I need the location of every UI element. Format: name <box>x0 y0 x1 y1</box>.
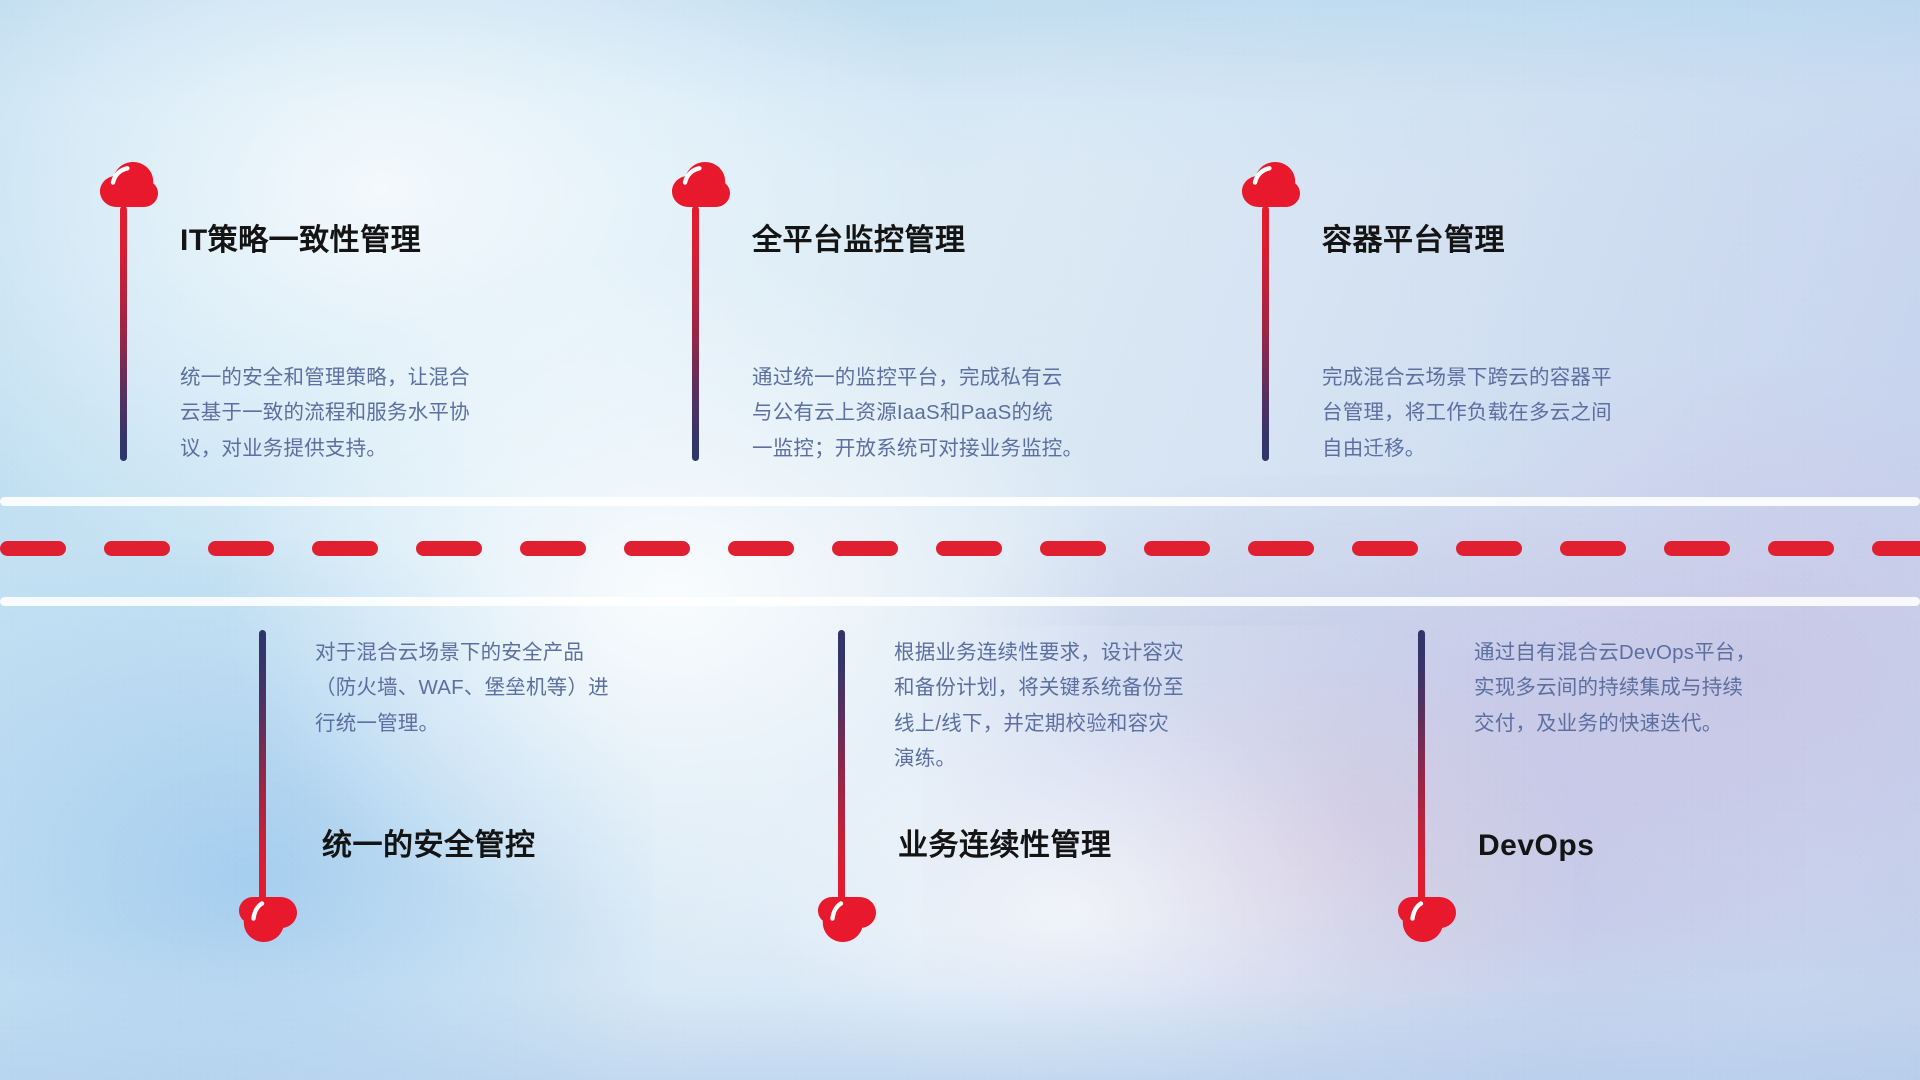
divider-rail-bottom <box>0 597 1920 606</box>
body-line: 完成混合云场景下跨云的容器平 <box>1322 360 1742 395</box>
node-body: 通过自有混合云DevOps平台， 实现多云间的持续集成与持续 交付，及业务的快速… <box>1474 635 1894 741</box>
divider-dash <box>1248 541 1314 556</box>
divider-dash <box>832 541 898 556</box>
node-body: 通过统一的监控平台，完成私有云 与公有云上资源IaaS和PaaS的统 一监控；开… <box>752 360 1172 466</box>
body-line: 统一的安全和管理策略，让混合 <box>180 360 600 395</box>
body-line: 台管理，将工作负载在多云之间 <box>1322 395 1742 430</box>
cloud-icon <box>1398 896 1456 942</box>
divider-dash <box>1872 541 1920 556</box>
body-line: 议，对业务提供支持。 <box>180 431 600 466</box>
body-line: 一监控；开放系统可对接业务监控。 <box>752 431 1172 466</box>
connector-stem <box>692 206 699 461</box>
divider-dash <box>208 541 274 556</box>
connector-stem <box>259 630 266 900</box>
node-body: 根据业务连续性要求，设计容灾 和备份计划，将关键系统备份至 线上/线下，并定期校… <box>894 635 1314 776</box>
divider-dash <box>0 541 66 556</box>
divider-dash <box>1352 541 1418 556</box>
divider-dash <box>624 541 690 556</box>
node-title: DevOps <box>1478 828 1594 864</box>
body-line: 通过统一的监控平台，完成私有云 <box>752 360 1172 395</box>
divider-dash <box>1560 541 1626 556</box>
body-line: 对于混合云场景下的安全产品 <box>315 635 735 670</box>
cloud-icon <box>239 896 297 942</box>
divider-dash <box>1456 541 1522 556</box>
cloud-icon <box>818 896 876 942</box>
divider-dash <box>728 541 794 556</box>
divider-dash <box>936 541 1002 556</box>
divider-dash <box>1144 541 1210 556</box>
body-line: 线上/线下，并定期校验和容灾 <box>894 706 1314 741</box>
divider-dash <box>416 541 482 556</box>
connector-stem <box>120 206 127 461</box>
divider-rail-top <box>0 497 1920 506</box>
body-line: 根据业务连续性要求，设计容灾 <box>894 635 1314 670</box>
cloud-icon <box>672 162 730 208</box>
node-body: 完成混合云场景下跨云的容器平 台管理，将工作负载在多云之间 自由迁移。 <box>1322 360 1742 466</box>
body-line: 通过自有混合云DevOps平台， <box>1474 635 1894 670</box>
divider-dash <box>104 541 170 556</box>
cloud-icon <box>100 162 158 208</box>
connector-stem <box>838 630 845 900</box>
node-body: 统一的安全和管理策略，让混合 云基于一致的流程和服务水平协 议，对业务提供支持。 <box>180 360 600 466</box>
body-line: 行统一管理。 <box>315 706 735 741</box>
node-body: 对于混合云场景下的安全产品 （防火墙、WAF、堡垒机等）进 行统一管理。 <box>315 635 735 741</box>
divider-dash <box>520 541 586 556</box>
body-line: 交付，及业务的快速迭代。 <box>1474 706 1894 741</box>
node-title: 全平台监控管理 <box>752 223 966 259</box>
body-line: 与公有云上资源IaaS和PaaS的统 <box>752 395 1172 430</box>
body-line: 云基于一致的流程和服务水平协 <box>180 395 600 430</box>
node-title: 统一的安全管控 <box>322 828 536 864</box>
connector-stem <box>1418 630 1425 900</box>
body-line: 实现多云间的持续集成与持续 <box>1474 670 1894 705</box>
connector-stem <box>1262 206 1269 461</box>
node-title: IT策略一致性管理 <box>180 223 421 259</box>
body-line: （防火墙、WAF、堡垒机等）进 <box>315 670 735 705</box>
divider-dash <box>1040 541 1106 556</box>
cloud-icon <box>1242 162 1300 208</box>
body-line: 和备份计划，将关键系统备份至 <box>894 670 1314 705</box>
infographic-stage: IT策略一致性管理 统一的安全和管理策略，让混合 云基于一致的流程和服务水平协 … <box>0 0 1920 1080</box>
body-line: 演练。 <box>894 741 1314 776</box>
divider-dashed-line <box>0 541 1920 556</box>
divider-dash <box>1664 541 1730 556</box>
body-line: 自由迁移。 <box>1322 431 1742 466</box>
node-title: 业务连续性管理 <box>898 828 1112 864</box>
divider-dash <box>312 541 378 556</box>
node-title: 容器平台管理 <box>1322 223 1505 259</box>
divider-dash <box>1768 541 1834 556</box>
